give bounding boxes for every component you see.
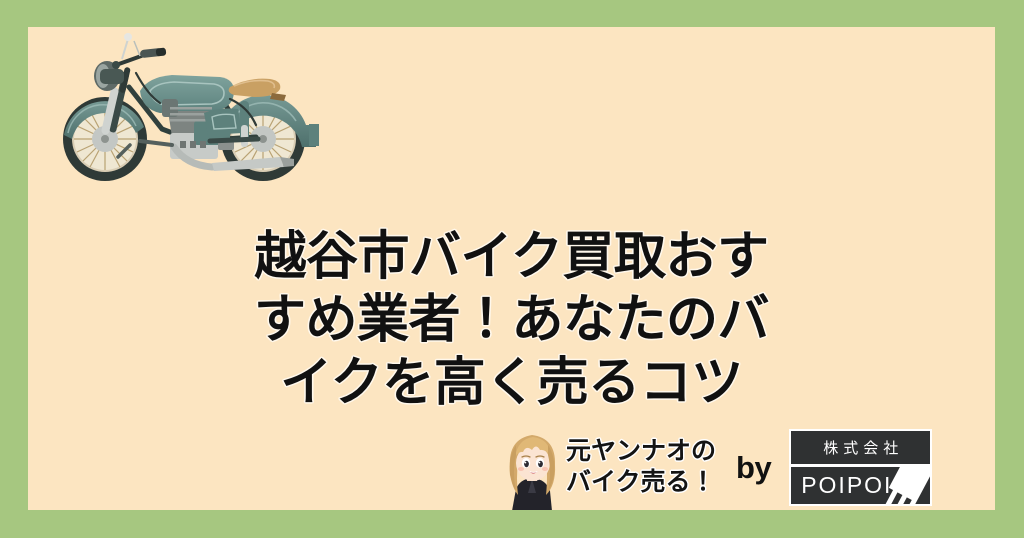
title-line-2: すめ業者！あなたのバ — [28, 289, 995, 352]
title-line-1: 越谷市バイク買取おす — [28, 226, 995, 289]
by-label: by — [736, 452, 771, 483]
brand-line-2: バイク売る！ — [566, 467, 716, 498]
credit-bar: 元ヤンナオの バイク売る！ by 株式会社 POIPOI — [502, 421, 987, 510]
banner-canvas: 越谷市バイク買取おす すめ業者！あなたのバ イクを高く売るコツ — [0, 0, 1024, 538]
page-title: 越谷市バイク買取おす すめ業者！あなたのバ イクを高く売るコツ — [28, 226, 995, 415]
side-cover — [204, 109, 242, 136]
company-prefix: 株式会社 — [791, 431, 930, 464]
classic-motorcycle-icon — [44, 29, 344, 189]
company-name: POIPOI — [791, 472, 892, 499]
company-logo: 株式会社 POIPOI — [789, 429, 932, 506]
handlebars — [112, 33, 166, 69]
content-panel: 越谷市バイク買取おす すめ業者！あなたのバ イクを高く売るコツ — [28, 27, 995, 510]
title-line-3: イクを高く売るコツ — [28, 352, 995, 415]
brand-line-1: 元ヤンナオの — [566, 436, 716, 467]
company-name-bar: POIPOI — [791, 467, 930, 504]
avatar — [502, 423, 562, 510]
yankee-nao-avatar-icon — [502, 423, 562, 510]
motorcycle-illustration — [44, 29, 344, 189]
brand-wordmark: 元ヤンナオの バイク売る！ — [566, 436, 716, 498]
